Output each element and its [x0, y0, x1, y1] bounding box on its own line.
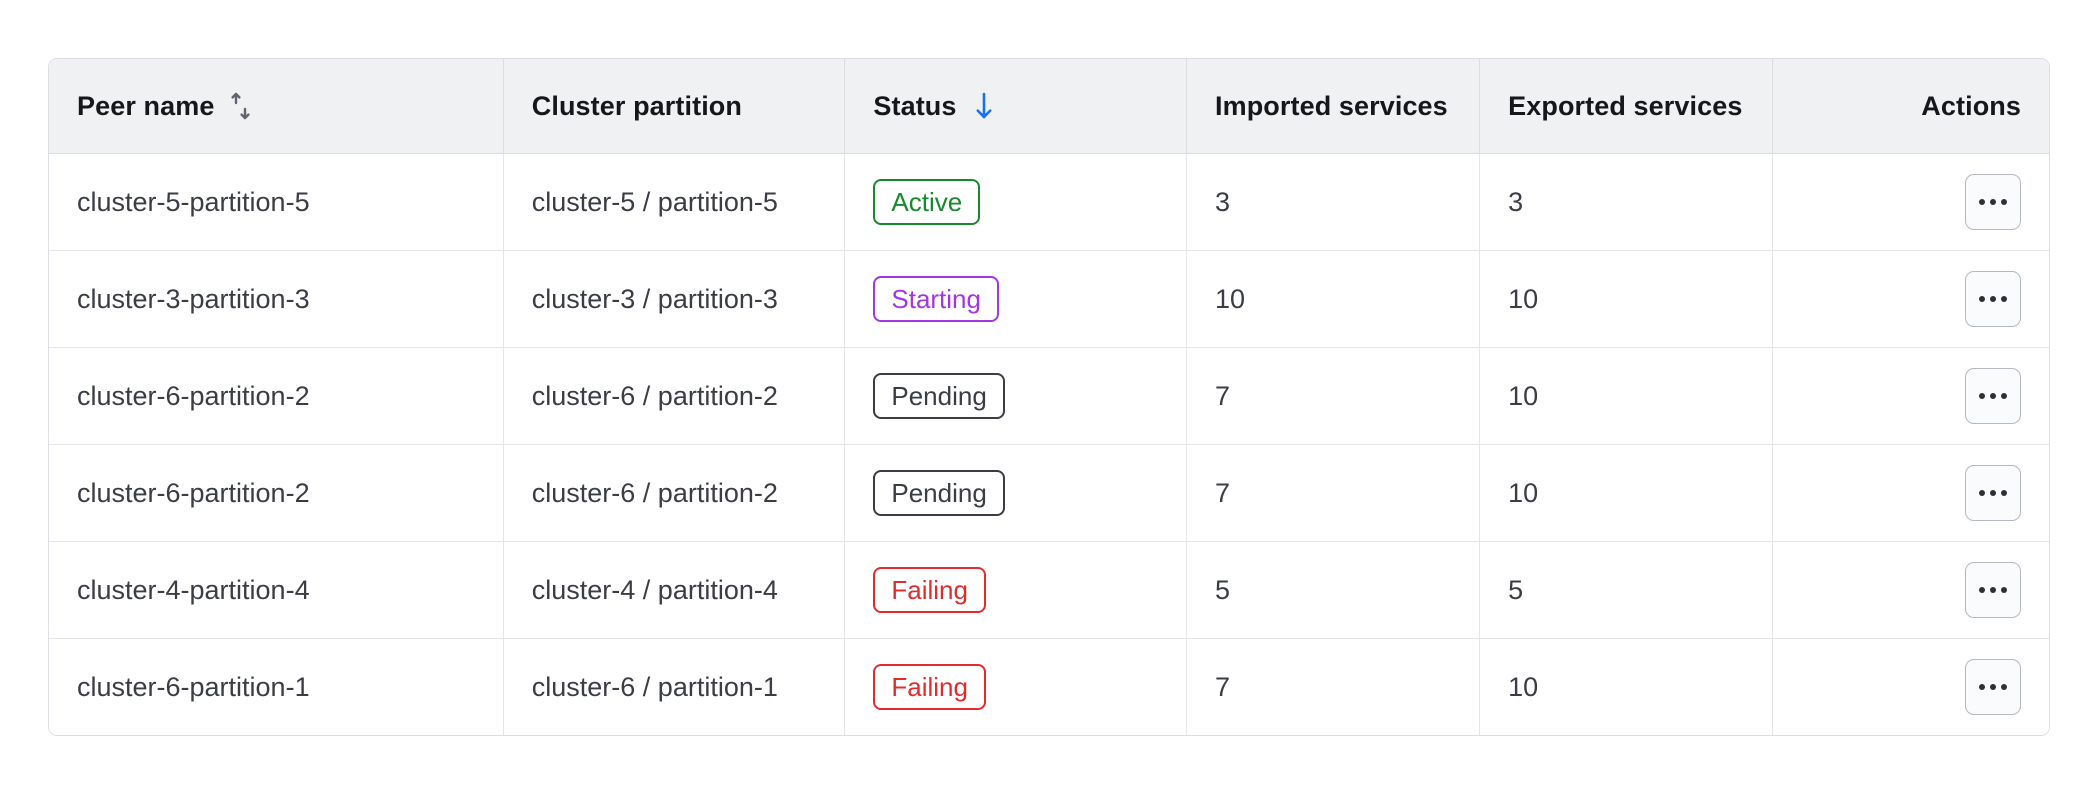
cell-imported-services: 3	[1186, 154, 1479, 251]
column-header-cluster-partition[interactable]: Cluster partition	[503, 59, 845, 154]
status-badge: Pending	[873, 373, 1004, 419]
table-row[interactable]: cluster-6-partition-1 cluster-6 / partit…	[49, 639, 2049, 736]
status-badge: Active	[873, 179, 980, 225]
status-badge: Failing	[873, 567, 986, 613]
row-actions-button[interactable]	[1965, 271, 2021, 327]
table-row[interactable]: cluster-5-partition-5 cluster-5 / partit…	[49, 154, 2049, 251]
cell-peer-name: cluster-6-partition-1	[49, 639, 503, 736]
column-header-label: Status	[873, 91, 956, 122]
row-actions-button[interactable]	[1965, 465, 2021, 521]
cell-exported-services: 5	[1480, 542, 1773, 639]
cell-exported-services: 10	[1480, 251, 1773, 348]
cell-status: Active	[845, 154, 1187, 251]
cell-actions	[1773, 251, 2049, 348]
cell-imported-services: 10	[1186, 251, 1479, 348]
column-header-label: Imported services	[1215, 91, 1448, 122]
peers-table: Peer name	[49, 59, 2049, 735]
ellipsis-icon	[1979, 490, 2007, 496]
cell-imported-services: 7	[1186, 639, 1479, 736]
cell-peer-name: cluster-5-partition-5	[49, 154, 503, 251]
column-header-actions: Actions	[1773, 59, 2049, 154]
cell-actions	[1773, 445, 2049, 542]
cell-cluster-partition: cluster-6 / partition-1	[503, 639, 845, 736]
cell-actions	[1773, 639, 2049, 736]
row-actions-button[interactable]	[1965, 368, 2021, 424]
table-row[interactable]: cluster-4-partition-4 cluster-4 / partit…	[49, 542, 2049, 639]
cell-status: Failing	[845, 639, 1187, 736]
cell-exported-services: 10	[1480, 639, 1773, 736]
ellipsis-icon	[1979, 587, 2007, 593]
sort-both-arrows-icon[interactable]	[228, 91, 254, 121]
cell-status: Starting	[845, 251, 1187, 348]
cell-status: Pending	[845, 348, 1187, 445]
cell-actions	[1773, 154, 2049, 251]
cell-exported-services: 10	[1480, 348, 1773, 445]
cell-status: Pending	[845, 445, 1187, 542]
cell-cluster-partition: cluster-5 / partition-5	[503, 154, 845, 251]
cell-cluster-partition: cluster-4 / partition-4	[503, 542, 845, 639]
table-header: Peer name	[49, 59, 2049, 154]
status-badge: Starting	[873, 276, 999, 322]
status-badge: Failing	[873, 664, 986, 710]
column-header-label: Cluster partition	[532, 91, 742, 122]
cell-peer-name: cluster-6-partition-2	[49, 445, 503, 542]
table-row[interactable]: cluster-6-partition-2 cluster-6 / partit…	[49, 445, 2049, 542]
column-header-label: Actions	[1921, 91, 2021, 122]
column-header-label: Exported services	[1508, 91, 1742, 122]
row-actions-button[interactable]	[1965, 174, 2021, 230]
row-actions-button[interactable]	[1965, 659, 2021, 715]
cell-status: Failing	[845, 542, 1187, 639]
table-row[interactable]: cluster-3-partition-3 cluster-3 / partit…	[49, 251, 2049, 348]
table-row[interactable]: cluster-6-partition-2 cluster-6 / partit…	[49, 348, 2049, 445]
cell-exported-services: 10	[1480, 445, 1773, 542]
row-actions-button[interactable]	[1965, 562, 2021, 618]
ellipsis-icon	[1979, 393, 2007, 399]
table-header-row: Peer name	[49, 59, 2049, 154]
cell-exported-services: 3	[1480, 154, 1773, 251]
cell-cluster-partition: cluster-6 / partition-2	[503, 348, 845, 445]
cell-imported-services: 5	[1186, 542, 1479, 639]
table-body: cluster-5-partition-5 cluster-5 / partit…	[49, 154, 2049, 736]
ellipsis-icon	[1979, 684, 2007, 690]
column-header-peer-name[interactable]: Peer name	[49, 59, 503, 154]
cell-actions	[1773, 542, 2049, 639]
cell-peer-name: cluster-3-partition-3	[49, 251, 503, 348]
ellipsis-icon	[1979, 296, 2007, 302]
cell-imported-services: 7	[1186, 348, 1479, 445]
cell-cluster-partition: cluster-6 / partition-2	[503, 445, 845, 542]
cell-peer-name: cluster-4-partition-4	[49, 542, 503, 639]
status-badge: Pending	[873, 470, 1004, 516]
column-header-label: Peer name	[77, 91, 214, 122]
cell-imported-services: 7	[1186, 445, 1479, 542]
cell-peer-name: cluster-6-partition-2	[49, 348, 503, 445]
cell-cluster-partition: cluster-3 / partition-3	[503, 251, 845, 348]
peers-table-container: Peer name	[48, 58, 2050, 736]
ellipsis-icon	[1979, 199, 2007, 205]
cell-actions	[1773, 348, 2049, 445]
peers-table-page: Peer name	[0, 0, 2096, 808]
column-header-status[interactable]: Status	[845, 59, 1187, 154]
column-header-imported-services[interactable]: Imported services	[1186, 59, 1479, 154]
arrow-down-icon[interactable]	[971, 91, 997, 121]
column-header-exported-services[interactable]: Exported services	[1480, 59, 1773, 154]
